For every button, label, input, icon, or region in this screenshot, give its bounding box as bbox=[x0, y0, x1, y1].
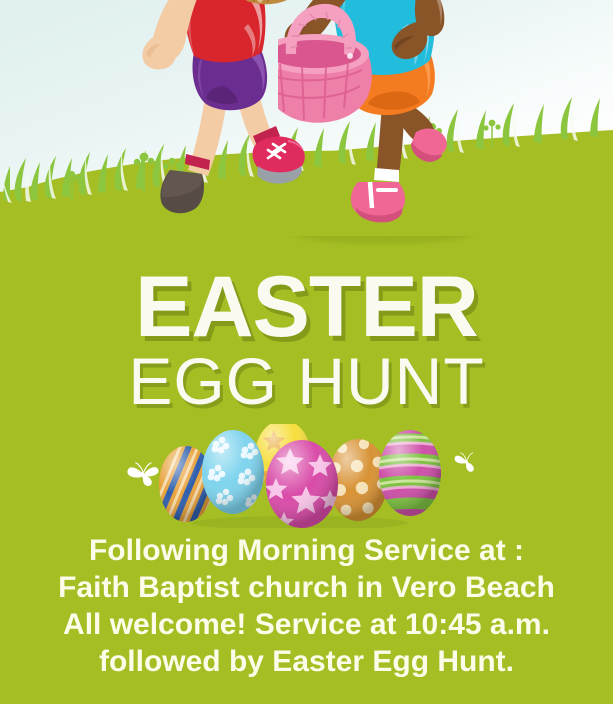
butterfly-icon bbox=[126, 455, 160, 489]
event-detail-line: All welcome! Service at 10:45 a.m. bbox=[0, 606, 613, 643]
headline-block: EASTER EGG HUNT bbox=[0, 266, 613, 414]
headline-egg-hunt: EGG HUNT bbox=[0, 348, 613, 414]
event-detail-line: Faith Baptist church in Vero Beach bbox=[0, 569, 613, 606]
event-detail-line: Following Morning Service at : bbox=[0, 532, 613, 569]
egg-blue-flowers bbox=[202, 430, 264, 514]
butterfly-icon bbox=[452, 447, 480, 475]
easter-eggs-group bbox=[150, 424, 470, 528]
egg-green-magenta-stripes bbox=[374, 424, 448, 520]
event-details-block: Following Morning Service at : Faith Bap… bbox=[0, 532, 613, 680]
headline-easter: EASTER bbox=[0, 266, 613, 348]
easter-egg-hunt-poster: EASTER EGG HUNT bbox=[0, 0, 613, 704]
boy-shirt bbox=[182, 0, 265, 62]
girl-front-leg bbox=[351, 104, 405, 222]
event-detail-line: followed by Easter Egg Hunt. bbox=[0, 643, 613, 680]
illustration-girl bbox=[278, 0, 508, 228]
